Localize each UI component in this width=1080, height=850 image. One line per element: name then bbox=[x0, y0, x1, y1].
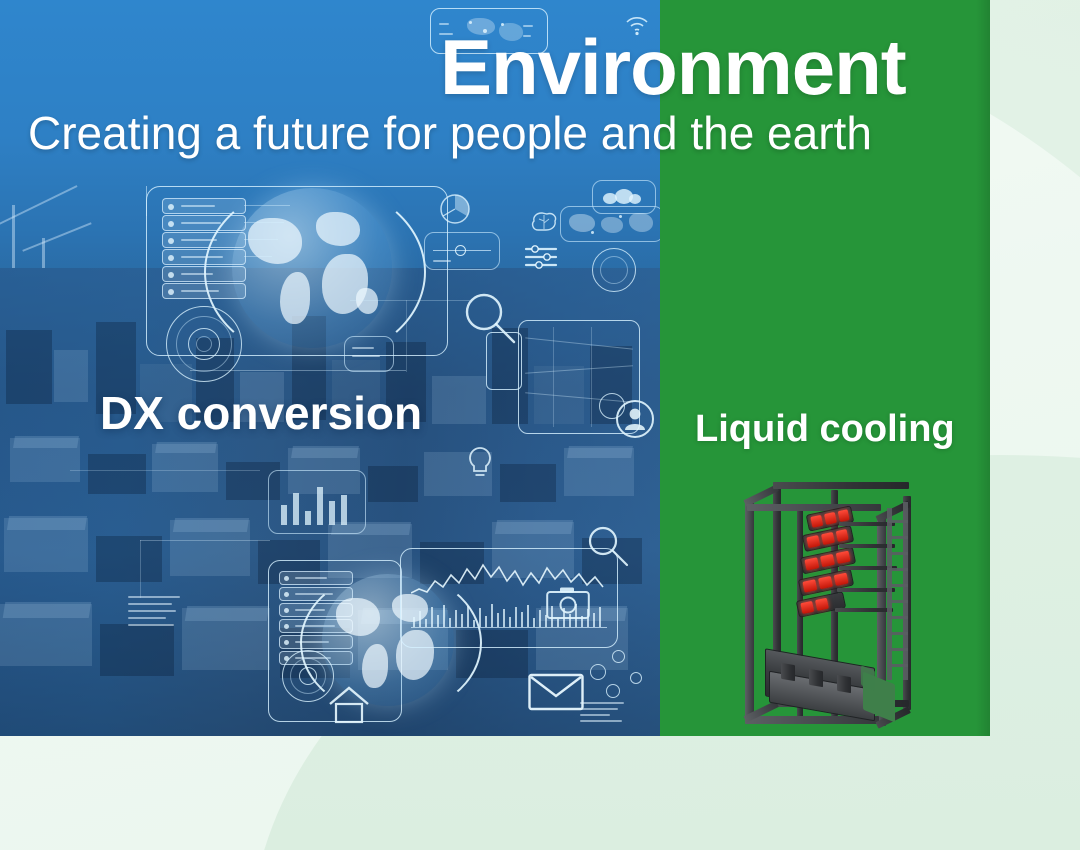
network-icon bbox=[590, 664, 606, 680]
user-icon bbox=[614, 398, 656, 440]
magnifier-icon bbox=[586, 524, 630, 568]
home-icon bbox=[326, 684, 372, 726]
envelope-icon bbox=[528, 672, 584, 712]
smartphone-icon bbox=[486, 332, 522, 390]
green-panel-edge-shadow bbox=[976, 0, 990, 736]
cloud-icon bbox=[592, 180, 656, 214]
page-title: Environment bbox=[440, 28, 906, 106]
camera-icon bbox=[546, 586, 590, 620]
sliders-icon bbox=[524, 244, 558, 270]
slide-canvas: Environment Creating a future for people… bbox=[0, 0, 1080, 850]
liquid-cooling-label: Liquid cooling bbox=[695, 410, 955, 448]
pie-chart-icon bbox=[438, 192, 472, 226]
slider-card-icon bbox=[424, 232, 500, 270]
brain-icon bbox=[530, 210, 560, 236]
dx-conversion-label: DX conversion bbox=[100, 390, 422, 436]
lightbulb-icon bbox=[466, 446, 494, 480]
page-subtitle: Creating a future for people and the ear… bbox=[28, 110, 872, 156]
liquid-cooling-rack-image bbox=[735, 472, 950, 734]
chip-icon bbox=[344, 336, 394, 372]
bar-chart-icon bbox=[268, 470, 366, 534]
